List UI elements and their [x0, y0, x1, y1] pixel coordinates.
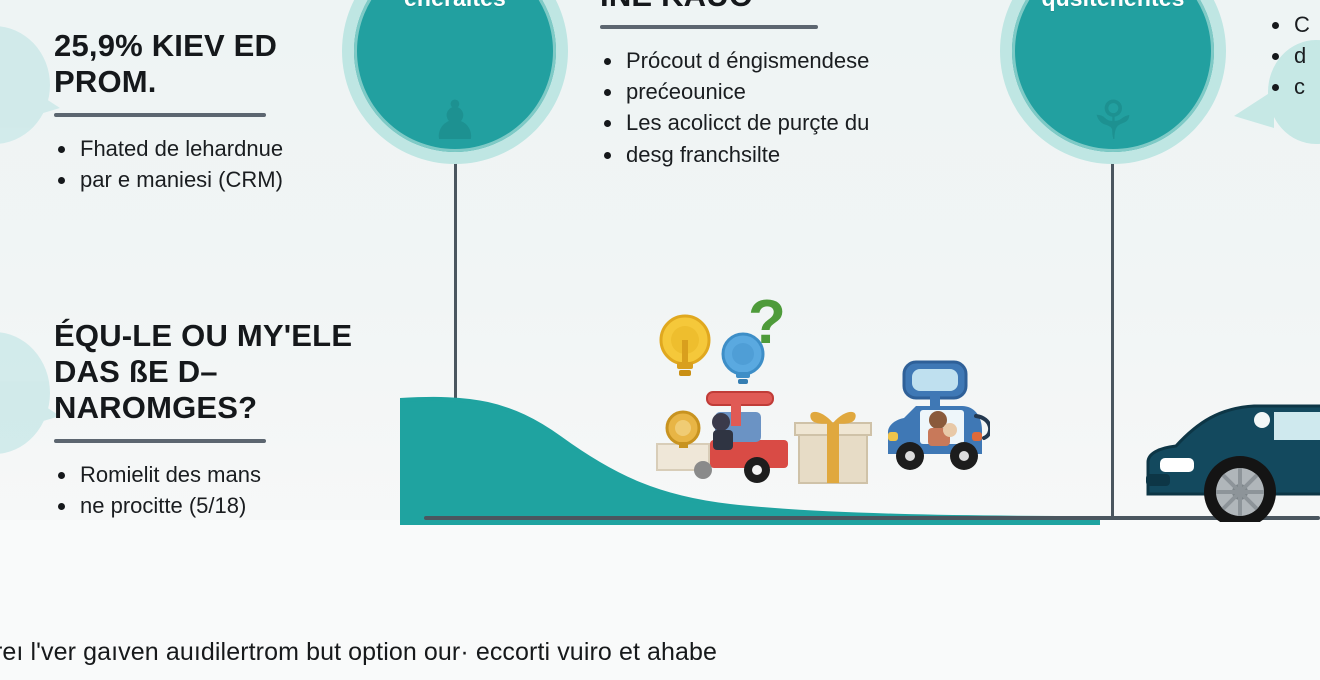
gold-lightbulb-icon: [655, 312, 715, 384]
heading-rule: [600, 25, 818, 29]
badge-inner-circle: Intrevis qusitenentes ⚘: [1012, 0, 1214, 152]
gift-box-icon: [793, 399, 873, 485]
list-item: Fhated de lehardnue: [54, 133, 344, 164]
block-bullet-list: C d c: [1268, 9, 1320, 103]
list-item: par e maniesi (CRM): [54, 164, 344, 195]
block-bullet-list: Prócout d éngismendese prećeounice Les a…: [600, 45, 1020, 170]
block-heading: ÉQU-LE OU MY'ELE DAS ßE D–NAROMGES?: [54, 318, 404, 426]
list-item: C: [1268, 9, 1320, 40]
badge-intrevis[interactable]: Intrevis qusitenentes ⚘: [1000, 0, 1226, 164]
person-icon: ♟: [354, 94, 556, 148]
connector-line-right: [1111, 110, 1114, 520]
text-block-top-right: C d c: [1268, 0, 1320, 103]
list-item: Les acolicct de purçte du: [600, 107, 1020, 138]
plant-icon: ⚘: [1012, 94, 1214, 148]
text-block-bottom-left: ÉQU-LE OU MY'ELE DAS ßE D–NAROMGES? Romi…: [54, 318, 404, 521]
badge-label: Conscutenl dut eneraites: [360, 0, 550, 12]
list-item: Prócout d éngismendese: [600, 45, 1020, 76]
block-heading: 25,9% KIEV ED PROM.: [54, 28, 344, 100]
block-heading: INE KAUO: [600, 0, 1020, 14]
list-item: d: [1268, 40, 1320, 71]
list-item: desg franchsilte: [600, 139, 1020, 170]
badge-inner-circle: Conscutenl dut eneraites ♟: [354, 0, 556, 152]
badge-label: Intrevis qusitenentes: [1018, 0, 1208, 12]
heading-rule: [54, 113, 266, 117]
block-bullet-list: Fhated de lehardnue par e maniesi (CRM): [54, 133, 344, 195]
list-item: prećeounice: [600, 76, 1020, 107]
dark-sedan-icon: [1142, 362, 1320, 522]
list-item: ne procitte (5/18): [54, 490, 404, 521]
bottom-caption: reı l'ver gaıven auıdilertrom but option…: [0, 638, 1320, 667]
badge-conscutenl[interactable]: Conscutenl dut eneraites ♟: [342, 0, 568, 164]
blue-family-car-icon: [880, 358, 990, 486]
block-bullet-list: Romielit des mans ne procitte (5/18): [54, 459, 404, 521]
list-item: Romielit des mans: [54, 459, 404, 490]
red-truck-icon: [655, 378, 805, 488]
list-item: c: [1268, 71, 1320, 102]
text-block-top-center: INE KAUO Prócout d éngismendese prećeoun…: [600, 0, 1020, 170]
infographic-canvas: Conscutenl dut eneraites ♟ Intrevis qusi…: [0, 0, 1320, 680]
text-block-top-left: 25,9% KIEV ED PROM. Fhated de lehardnue …: [54, 28, 344, 195]
heading-rule: [54, 439, 266, 443]
